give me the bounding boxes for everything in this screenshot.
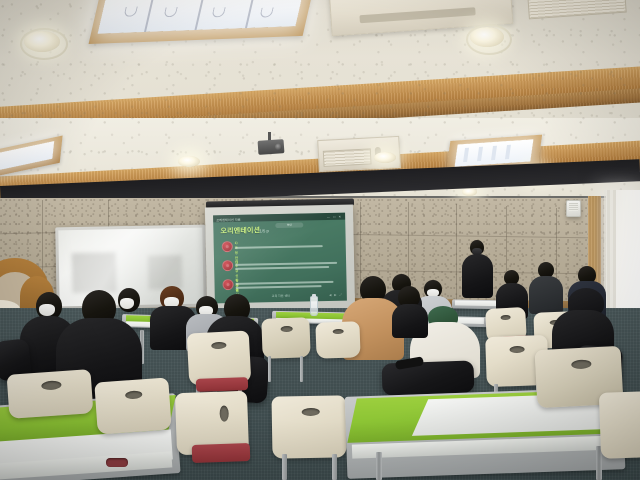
person-presenter-torso xyxy=(462,254,493,298)
slide-controls[interactable]: ◀ ▶ ⤢ xyxy=(329,293,343,297)
classroom-photo: 프레젠테이션 자료 — □ ✕ 오리엔테이션 1/5 p 안내 1) 과정 안내 xyxy=(0,0,640,480)
chair-handle-slot xyxy=(106,458,128,467)
ceiling-projector xyxy=(258,139,285,155)
projection-screen[interactable]: 프레젠테이션 자료 — □ ✕ 오리엔테이션 1/5 p 안내 1) 과정 안내 xyxy=(205,204,355,311)
downlight-1 xyxy=(24,31,60,52)
downlight-3 xyxy=(178,156,200,167)
stacking-chair[interactable] xyxy=(7,369,94,419)
bullet-circle-icon-3 xyxy=(222,279,233,290)
backpack[interactable] xyxy=(381,360,474,395)
bullet-circle-icon-2 xyxy=(222,260,233,271)
slide-window-bar: 프레젠테이션 자료 — □ ✕ xyxy=(213,213,345,223)
person-torso xyxy=(529,276,563,314)
slide-window-buttons[interactable]: — □ ✕ xyxy=(327,214,342,218)
slide-content[interactable]: 프레젠테이션 자료 — □ ✕ 오리엔테이션 1/5 p 안내 1) 과정 안내 xyxy=(213,213,347,304)
slide-heading: 오리엔테이션 xyxy=(220,225,260,236)
wall-speaker xyxy=(566,200,581,217)
water-bottle[interactable] xyxy=(310,296,318,316)
stacking-chair[interactable] xyxy=(271,395,346,458)
stacking-chair[interactable] xyxy=(315,321,360,359)
slide-subtitle: 1/5 p xyxy=(259,228,268,233)
stacking-chair[interactable] xyxy=(94,377,171,434)
downlight-7 xyxy=(462,188,477,196)
chair-seat[interactable] xyxy=(192,443,251,463)
stacking-chair[interactable] xyxy=(599,391,640,459)
projector-lens xyxy=(275,143,282,150)
stacking-chair[interactable] xyxy=(261,317,310,359)
slide-pill-badge: 안내 xyxy=(275,223,303,228)
person-mask xyxy=(39,304,55,316)
wall-seam xyxy=(456,204,457,312)
person-torso xyxy=(392,304,428,338)
bullet-circle-icon-1 xyxy=(222,241,233,252)
slide-window-title: 프레젠테이션 자료 xyxy=(216,216,241,222)
chair-seat[interactable] xyxy=(196,377,248,392)
person-mask xyxy=(120,298,134,309)
downlight-2 xyxy=(470,27,504,47)
downlight-4 xyxy=(374,152,396,163)
